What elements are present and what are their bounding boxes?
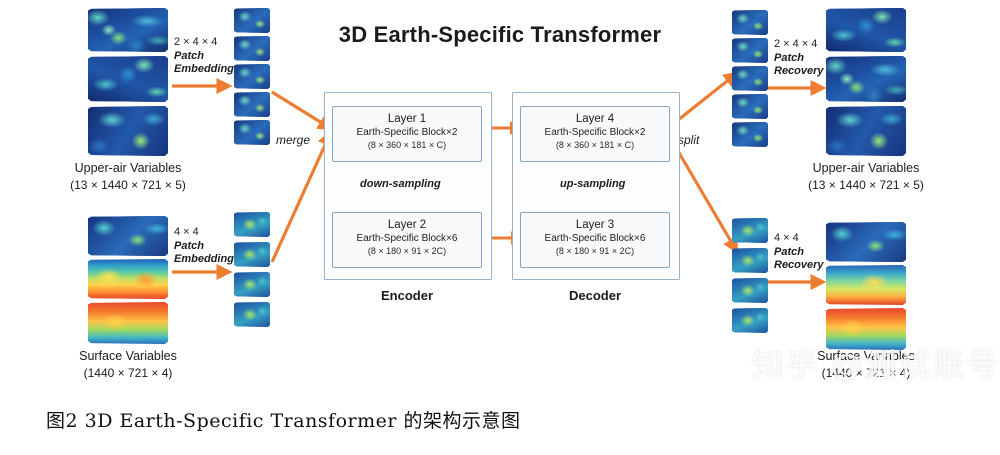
- surface-map-1: [88, 216, 168, 256]
- upper-air-output-chips: [730, 10, 770, 150]
- upper-air-output-cubes: [826, 8, 906, 156]
- surface-output-maps: [826, 222, 906, 350]
- surface-patch-embedding-annotation: 4 × 4 Patch Embedding: [174, 226, 234, 267]
- split-label: split: [678, 133, 699, 147]
- surface-map-3: [88, 302, 168, 344]
- surface-map-2: [88, 259, 168, 299]
- surface-output-chips: [730, 218, 770, 348]
- upper-air-embedding-op-line2: Embedding: [174, 63, 234, 77]
- encoder-layer-2-box[interactable]: Layer 2 Earth-Specific Block×6 (8 × 180 …: [332, 212, 482, 268]
- upper-air-recovery-kernel: 2 × 4 × 4: [774, 38, 824, 52]
- surface-input-shape: (1440 × 721 × 4): [28, 365, 228, 382]
- upper-air-chip: [234, 8, 270, 33]
- decoder-layer-3-blocks: Earth-Specific Block×6: [521, 232, 669, 245]
- figure-title: 3D Earth-Specific Transformer: [300, 22, 700, 48]
- upper-air-output-cube-3: [826, 106, 906, 156]
- surface-output-chip: [732, 308, 768, 333]
- surface-embedding-op-line1: Patch: [174, 240, 234, 254]
- upper-air-embedding-op-line1: Patch: [174, 50, 234, 64]
- decoder-layer-3-dims: (8 × 180 × 91 × 2C): [521, 245, 669, 257]
- upper-air-chip: [234, 64, 270, 89]
- upper-air-input-shape: (13 × 1440 × 721 × 5): [28, 177, 228, 194]
- upper-air-output-chip: [732, 10, 768, 35]
- surface-chip: [234, 272, 270, 297]
- figure-caption: 图2 3D Earth-Specific Transformer 的架构示意图: [46, 406, 521, 433]
- surface-output-chip: [732, 278, 768, 303]
- upper-air-cube-2: [88, 56, 168, 102]
- surface-output-chip: [732, 218, 768, 243]
- upper-air-output-chip: [732, 66, 768, 91]
- upper-air-chip: [234, 120, 270, 145]
- upper-air-output-cube-2: [826, 56, 906, 102]
- upper-air-output-name: Upper-air Variables: [766, 160, 966, 177]
- upper-air-input-cubes: [88, 8, 168, 156]
- upper-air-recovery-op-line2: Recovery: [774, 65, 824, 79]
- surface-embedded-chips: [232, 212, 272, 342]
- encoder-layer-1-blocks: Earth-Specific Block×2: [333, 126, 481, 139]
- decoder-layer-4-title: Layer 4: [521, 112, 669, 126]
- surface-chip: [234, 212, 270, 237]
- surface-output-chip: [732, 248, 768, 273]
- merge-label: merge: [276, 133, 310, 147]
- surface-embedding-op-line2: Embedding: [174, 253, 234, 267]
- surface-recovery-op-line1: Patch: [774, 246, 824, 260]
- upper-air-patch-recovery-annotation: 2 × 4 × 4 Patch Recovery: [774, 38, 824, 79]
- upper-air-output-chip: [732, 38, 768, 63]
- surface-input-name: Surface Variables: [28, 348, 228, 365]
- figure-canvas: 3D Earth-Specific Transformer 2 × 4 × 4 …: [0, 0, 1000, 455]
- encoder-layer-2-blocks: Earth-Specific Block×6: [333, 232, 481, 245]
- surface-output-map-1: [826, 222, 906, 262]
- upper-air-output-cube-1: [826, 8, 906, 52]
- surface-chip: [234, 242, 270, 267]
- upper-air-output-chip: [732, 122, 768, 147]
- encoder-layer-1-dims: (8 × 360 × 181 × C): [333, 139, 481, 151]
- encoder-layer-1-box[interactable]: Layer 1 Earth-Specific Block×2 (8 × 360 …: [332, 106, 482, 162]
- upper-air-embedding-kernel: 2 × 4 × 4: [174, 36, 234, 50]
- decoder-layer-4-blocks: Earth-Specific Block×2: [521, 126, 669, 139]
- up-sampling-label: up-sampling: [557, 178, 628, 190]
- upper-air-embedded-chips: [232, 8, 272, 148]
- encoder-layer-2-dims: (8 × 180 × 91 × 2C): [333, 245, 481, 257]
- encoder-layer-2-title: Layer 2: [333, 218, 481, 232]
- upper-air-patch-embedding-annotation: 2 × 4 × 4 Patch Embedding: [174, 36, 234, 77]
- surface-input-maps: [88, 216, 168, 344]
- upper-air-output-shape: (13 × 1440 × 721 × 5): [766, 177, 966, 194]
- decoder-layer-4-box[interactable]: Layer 4 Earth-Specific Block×2 (8 × 360 …: [520, 106, 670, 162]
- down-sampling-label: down-sampling: [357, 178, 444, 190]
- upper-air-input-name: Upper-air Variables: [28, 160, 228, 177]
- surface-input-caption: Surface Variables (1440 × 721 × 4): [28, 348, 228, 382]
- upper-air-cube-1: [88, 8, 168, 52]
- encoder-layer-1-title: Layer 1: [333, 112, 481, 126]
- decoder-layer-3-box[interactable]: Layer 3 Earth-Specific Block×6 (8 × 180 …: [520, 212, 670, 268]
- upper-air-cube-3: [88, 106, 168, 156]
- decoder-layer-3-title: Layer 3: [521, 218, 669, 232]
- surface-chip: [234, 302, 270, 327]
- upper-air-output-chip: [732, 94, 768, 119]
- decoder-label: Decoder: [515, 288, 675, 303]
- surface-patch-recovery-annotation: 4 × 4 Patch Recovery: [774, 232, 824, 273]
- upper-air-recovery-op-line1: Patch: [774, 52, 824, 66]
- surface-embedding-kernel: 4 × 4: [174, 226, 234, 240]
- zhihu-watermark: 知乎 @测试账号: [752, 340, 1000, 385]
- upper-air-input-caption: Upper-air Variables (13 × 1440 × 721 × 5…: [28, 160, 228, 194]
- upper-air-chip: [234, 36, 270, 61]
- surface-output-map-2: [826, 265, 906, 305]
- surface-recovery-kernel: 4 × 4: [774, 232, 824, 246]
- surface-recovery-op-line2: Recovery: [774, 259, 824, 273]
- decoder-layer-4-dims: (8 × 360 × 181 × C): [521, 139, 669, 151]
- arrow-merge-upper: [272, 92, 330, 128]
- encoder-label: Encoder: [327, 288, 487, 303]
- upper-air-chip: [234, 92, 270, 117]
- upper-air-output-caption: Upper-air Variables (13 × 1440 × 721 × 5…: [766, 160, 966, 194]
- arrow-merge-surface: [272, 134, 330, 262]
